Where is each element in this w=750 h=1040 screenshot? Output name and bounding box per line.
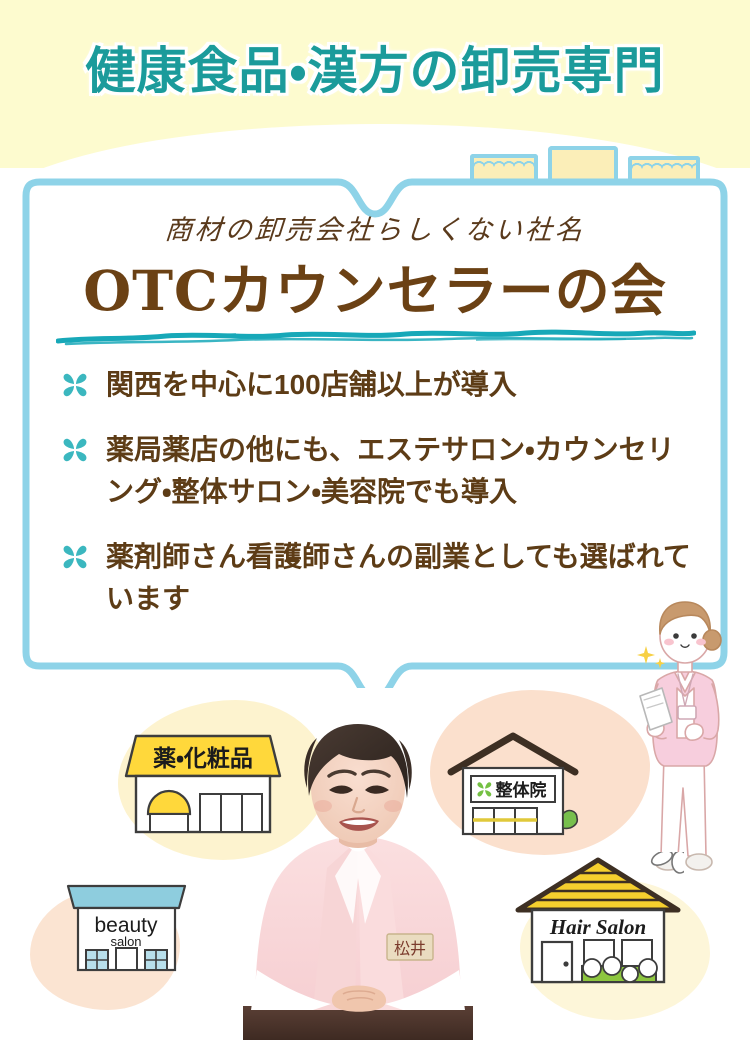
pharmacist-photo: 松井 <box>243 718 473 1040</box>
list-item: 薬局薬店の他にも、エステサロン・カウンセリング・整体サロン・美容院でも導入 <box>60 429 700 512</box>
name-badge-label: 松井 <box>394 940 426 958</box>
card-lead-text: 商材の卸売会社らしくない社名 <box>17 208 734 247</box>
clover-icon <box>60 543 90 571</box>
main-card: 商材の卸売会社らしくない社名 OTCカウンセラーの会 <box>18 168 732 688</box>
clinic-sign-label: 整体院 <box>495 780 547 800</box>
feature-list: 関西を中心に100店舗以上が導入 薬局薬店の他にも、エステサロン・カウンセリング… <box>60 364 700 643</box>
tab-wavy-top-icon <box>474 158 534 168</box>
beauty-salon-illustration: beauty salon <box>64 876 189 976</box>
list-item: 薬剤師さん看護師さんの副業としても選ばれています <box>60 536 700 619</box>
hair-salon-sign-label: Hair Salon <box>549 915 646 939</box>
page-title: 健康食品・漢方の卸売専門 <box>0 44 750 98</box>
brand-name: OTCカウンセラーの会 <box>18 246 732 326</box>
clover-icon <box>60 436 90 464</box>
list-item-label: 薬剤師さん看護師さんの副業としても選ばれています <box>106 541 691 613</box>
clover-icon <box>60 371 90 399</box>
pharmacy-sign-label: 薬・化粧品 <box>153 745 253 771</box>
list-item: 関西を中心に100店舗以上が導入 <box>60 364 700 405</box>
brush-underline-icon <box>56 328 696 346</box>
promo-page: 健康食品・漢方の卸売専門 商材の卸売会社らしくない社名 OTCカウンセラーの会 <box>0 0 750 1040</box>
list-item-label: 関西を中心に100店舗以上が導入 <box>106 369 517 400</box>
pharmacist-illustration <box>628 588 746 888</box>
list-item-label: 薬局薬店の他にも、エステサロン・カウンセリング・整体サロン・美容院でも導入 <box>106 434 675 506</box>
hair-salon-illustration: Hair Salon <box>512 852 684 990</box>
beauty-salon-sign-line2: salon <box>110 934 141 949</box>
